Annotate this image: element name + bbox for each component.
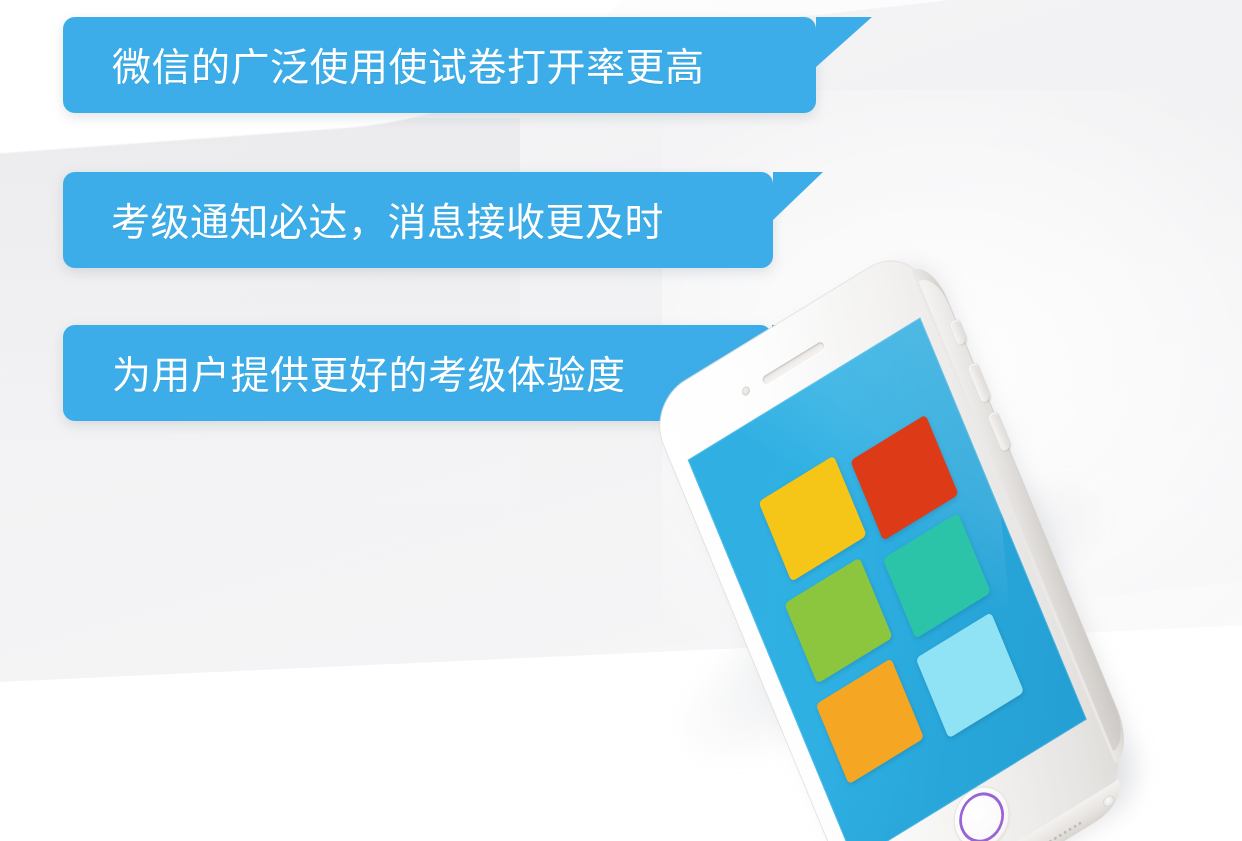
- app-tile-green[interactable]: [784, 558, 892, 684]
- speech-bubble-2-text: 考级通知必达，消息接收更及时: [111, 192, 664, 248]
- poster-canvas: 微信的广泛使用使试卷打开率更高 考级通知必达，消息接收更及时 为用户提供更好的考…: [0, 0, 1242, 841]
- speech-bubble-1-text: 微信的广泛使用使试卷打开率更高: [112, 37, 705, 93]
- speech-bubble-2-tail: [773, 172, 823, 220]
- phone-illustration: [610, 330, 1242, 750]
- speech-bubble-3-text: 为用户提供更好的考级体验度: [112, 345, 626, 401]
- speech-bubble-2: 考级通知必达，消息接收更及时: [63, 172, 773, 268]
- speech-bubble-1-tail: [816, 17, 872, 67]
- speech-bubble-1: 微信的广泛使用使试卷打开率更高: [63, 17, 816, 113]
